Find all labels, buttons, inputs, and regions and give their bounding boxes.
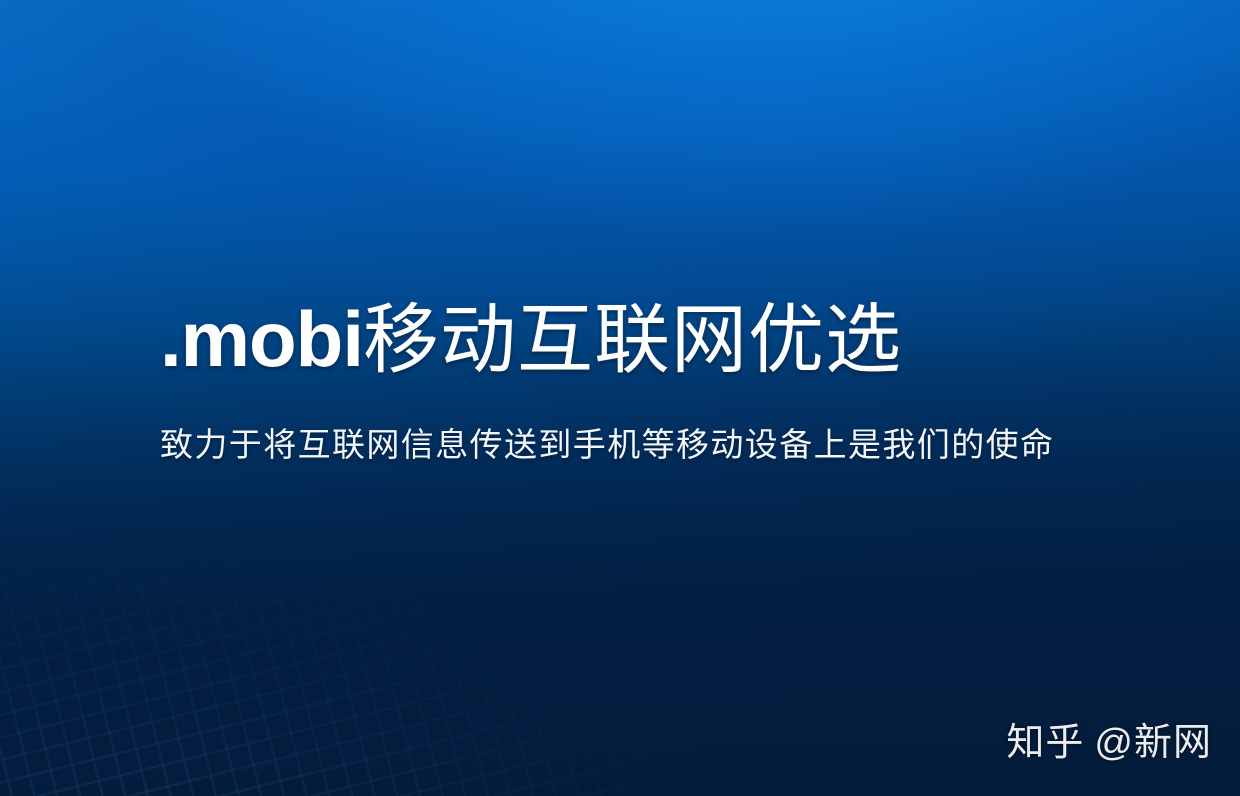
banner-text-block: .mobi移动互联网优选 致力于将互联网信息传送到手机等移动设备上是我们的使命 bbox=[0, 0, 1240, 796]
banner-subtitle: 致力于将互联网信息传送到手机等移动设备上是我们的使命 bbox=[160, 418, 1054, 466]
zhihu-watermark: 知乎@新网 bbox=[1006, 711, 1212, 766]
watermark-handle: @新网 bbox=[1094, 722, 1212, 764]
banner-headline: .mobi移动互联网优选 bbox=[160, 296, 902, 384]
mobi-promo-banner: .mobi移动互联网优选 致力于将互联网信息传送到手机等移动设备上是我们的使命 … bbox=[0, 0, 1240, 796]
headline-cjk-tagline: 移动互联网优选 bbox=[363, 298, 902, 383]
headline-latin-mobi: .mobi bbox=[160, 295, 363, 383]
watermark-platform-name: 知乎 bbox=[1006, 722, 1084, 764]
